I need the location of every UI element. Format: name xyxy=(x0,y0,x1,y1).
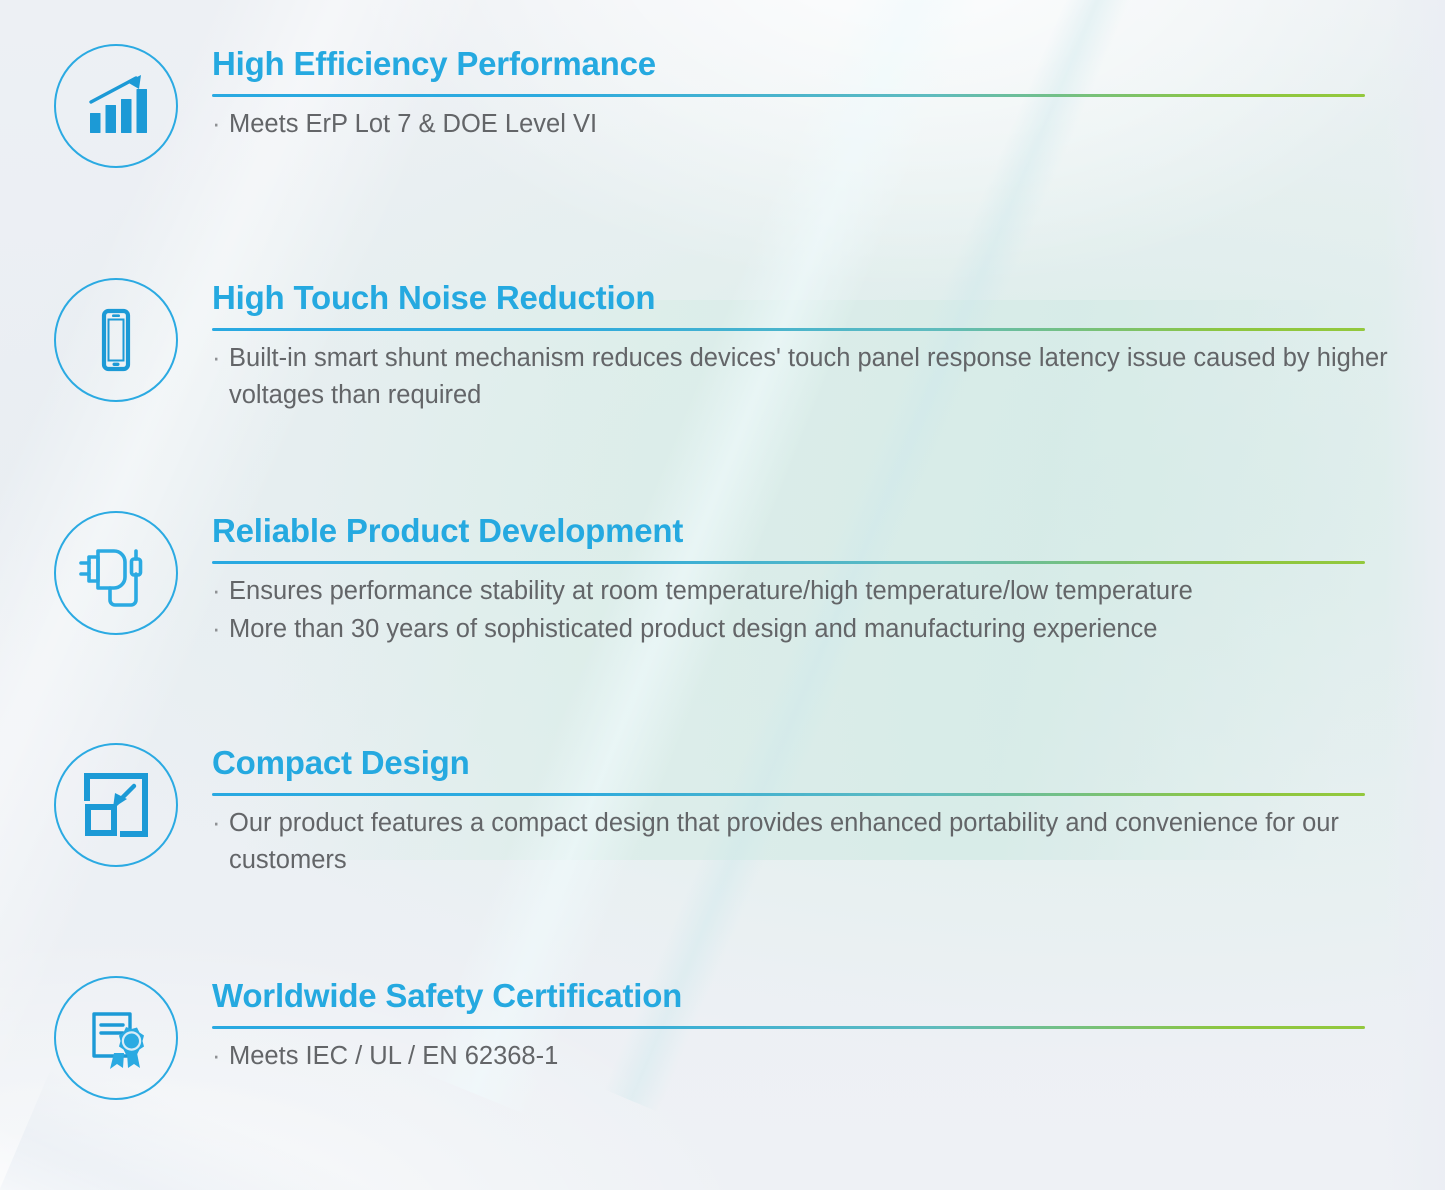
power-adapter-icon xyxy=(54,511,178,635)
feature-item-compact-design: Compact Design · Our product features a … xyxy=(0,743,1445,880)
bar-chart-growth-icon xyxy=(54,44,178,168)
feature-title: High Touch Noise Reduction xyxy=(212,280,1445,317)
feature-icon-wrap xyxy=(0,976,212,1100)
bullet-marker: · xyxy=(212,805,229,842)
feature-item-reliable-product-development: Reliable Product Development · Ensures p… xyxy=(0,511,1445,649)
bullet-text: Meets ErP Lot 7 & DOE Level VI xyxy=(229,106,1445,143)
feature-divider xyxy=(212,1026,1365,1029)
bullet-item: · Meets IEC / UL / EN 62368-1 xyxy=(212,1038,1445,1075)
feature-item-high-efficiency-performance: High Efficiency Performance · Meets ErP … xyxy=(0,44,1445,168)
feature-bullets: · Built-in smart shunt mechanism reduces… xyxy=(212,340,1445,414)
feature-list-page: High Efficiency Performance · Meets ErP … xyxy=(0,0,1445,1190)
feature-title: Reliable Product Development xyxy=(212,513,1445,550)
feature-body: High Efficiency Performance · Meets ErP … xyxy=(212,44,1445,144)
bullet-item: · Built-in smart shunt mechanism reduces… xyxy=(212,340,1445,414)
feature-body: Reliable Product Development · Ensures p… xyxy=(212,511,1445,649)
feature-body: Compact Design · Our product features a … xyxy=(212,743,1445,880)
bullet-marker: · xyxy=(212,1038,229,1075)
feature-title: High Efficiency Performance xyxy=(212,46,1445,83)
feature-bullets: · Our product features a compact design … xyxy=(212,805,1445,879)
background-light-ray xyxy=(0,1100,1137,1190)
bullet-item: · Ensures performance stability at room … xyxy=(212,573,1445,610)
bullet-item: · Meets ErP Lot 7 & DOE Level VI xyxy=(212,106,1445,143)
feature-body: High Touch Noise Reduction · Built-in sm… xyxy=(212,278,1445,415)
feature-bullets: · Ensures performance stability at room … xyxy=(212,573,1445,648)
feature-divider xyxy=(212,793,1365,796)
bullet-marker: · xyxy=(212,573,229,610)
feature-icon-wrap xyxy=(0,278,212,402)
bullet-item: · Our product features a compact design … xyxy=(212,805,1445,879)
feature-divider xyxy=(212,328,1365,331)
feature-title: Worldwide Safety Certification xyxy=(212,978,1445,1015)
bullet-text: Our product features a compact design th… xyxy=(229,805,1445,879)
feature-icon-wrap xyxy=(0,44,212,168)
feature-icon-wrap xyxy=(0,743,212,867)
bullet-text: More than 30 years of sophisticated prod… xyxy=(229,611,1445,648)
bullet-text: Meets IEC / UL / EN 62368-1 xyxy=(229,1038,1445,1075)
bullet-marker: · xyxy=(212,611,229,648)
feature-body: Worldwide Safety Certification · Meets I… xyxy=(212,976,1445,1076)
bullet-text: Ensures performance stability at room te… xyxy=(229,573,1445,610)
feature-bullets: · Meets IEC / UL / EN 62368-1 xyxy=(212,1038,1445,1075)
feature-item-high-touch-noise-reduction: High Touch Noise Reduction · Built-in sm… xyxy=(0,278,1445,415)
feature-item-worldwide-safety-certification: Worldwide Safety Certification · Meets I… xyxy=(0,976,1445,1100)
bullet-text: Built-in smart shunt mechanism reduces d… xyxy=(229,340,1445,414)
bullet-marker: · xyxy=(212,340,229,377)
feature-bullets: · Meets ErP Lot 7 & DOE Level VI xyxy=(212,106,1445,143)
bullet-item: · More than 30 years of sophisticated pr… xyxy=(212,611,1445,648)
feature-divider xyxy=(212,561,1365,564)
certificate-award-icon xyxy=(54,976,178,1100)
feature-title: Compact Design xyxy=(212,745,1445,782)
bullet-marker: · xyxy=(212,106,229,143)
feature-divider xyxy=(212,94,1365,97)
smartphone-icon xyxy=(54,278,178,402)
feature-icon-wrap xyxy=(0,511,212,635)
compact-resize-icon xyxy=(54,743,178,867)
